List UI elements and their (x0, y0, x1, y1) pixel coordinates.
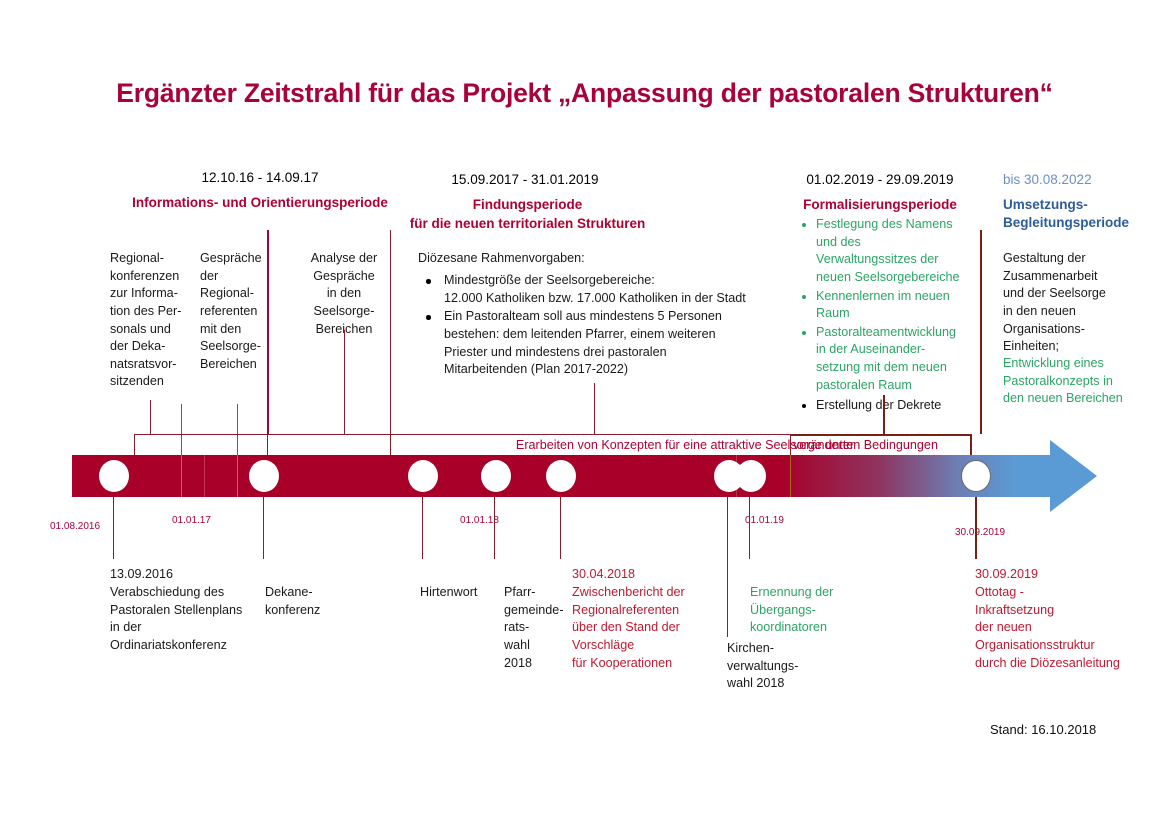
stalk-regionalkonferenzen (150, 400, 151, 434)
stalk-findungs-mid (594, 383, 595, 434)
axis-tick-label-5: 30.09.2019 (955, 527, 1005, 538)
stalk-findungs-left (390, 230, 391, 434)
stalk-analyse (344, 330, 345, 434)
list-item: Festlegung des Namens und des Verwaltung… (800, 216, 990, 287)
period-name-findungs-line2: für die neuen territorialen Strukturen (400, 215, 655, 233)
axis-tick-label-1: 01.08.2016 (50, 521, 100, 532)
drop-line-dekanekonferenz (263, 497, 264, 559)
event-text-uebergangskoordinatoren: Ernennung der Übergangs- koordinatoren (750, 584, 860, 637)
event-text-pfarrgemeinderatswahl: Pfarr- gemeinde- rats- wahl 2018 (504, 584, 566, 672)
bar-tick-c (237, 455, 238, 497)
drop-line-pfarrgemeinderatswahl (494, 497, 495, 559)
axis-tick-label-2: 01.01.17 (172, 515, 211, 526)
drop-line-kirchenverwaltungswahl (727, 497, 728, 637)
drop-line-stellenplan (113, 497, 114, 559)
event-text-zwischenbericht: Zwischenbericht der Regionalreferenten ü… (572, 584, 722, 672)
drop-line-uebergangskoordinatoren (749, 497, 750, 559)
column-umsetzung-green: Entwicklung eines Pastoralkonzepts in de… (1003, 355, 1158, 408)
period-date-findungs: 15.09.2017 - 31.01.2019 (390, 172, 660, 187)
period-date-informations: 12.10.16 - 14.09.17 (130, 170, 390, 185)
event-text-dekanekonferenz: Dekane- konferenz (265, 584, 335, 619)
event-date-ottotag: 30.09.2019 (975, 566, 1038, 584)
period-name-informations: Informations- und Orientierungsperiode (110, 194, 410, 212)
event-date-stellenplan: 13.09.2016 (110, 566, 173, 584)
period-name-formalisierungs: Formalisierungsperiode (795, 196, 965, 214)
column-umsetzung-black: Gestaltung der Zusammenarbeit und der Se… (1003, 250, 1153, 356)
bracket-drop-findungs (390, 434, 391, 456)
event-text-kirchenverwaltungswahl: Kirchen- verwaltungs- wahl 2018 (727, 640, 827, 693)
drop-line-hirtenwort (422, 497, 423, 559)
timeline-node-7 (736, 460, 766, 492)
drop-line-ottotag (975, 497, 977, 559)
bracket-horizontal-dark (790, 434, 972, 436)
bar-tick-e (790, 455, 791, 497)
bracket-drop-informations (267, 434, 268, 456)
list-item: Pastoralteamentwicklung in der Auseinand… (800, 324, 990, 395)
list-item: Kennenlernen im neuen Raum (800, 288, 990, 323)
axis-tick-label-4: 01.01.19 (745, 515, 784, 526)
list-item: Ein Pastoralteam soll aus mindestens 5 P… (418, 308, 818, 379)
timeline-diagram: Ergänzter Zeitstrahl für das Projekt „An… (0, 0, 1169, 827)
list-item: Mindestgröße der Seelsorgebereiche: 12.0… (418, 272, 818, 307)
column-analyse: Analyse der Gespräche in den Seelsorge- … (296, 250, 392, 338)
event-date-zwischenbericht: 30.04.2018 (572, 566, 635, 584)
page-title: Ergänzter Zeitstrahl für das Projekt „An… (0, 78, 1169, 109)
stalk-informations-right (267, 230, 269, 434)
period-date-umsetzungs: bis 30.08.2022 (1003, 172, 1148, 187)
formalisierung-bullet-list: Festlegung des Namens und des Verwaltung… (800, 216, 990, 416)
timeline-node-8 (961, 460, 991, 492)
stand-label: Stand: 16.10.2018 (990, 722, 1096, 737)
column-rahmenvorgaben-intro: Diözesane Rahmenvorgaben: (418, 250, 798, 268)
period-name-findungs: Findungsperiode (400, 196, 655, 214)
timeline-node-5 (546, 460, 576, 492)
event-text-ottotag: Ottotag - Inkraftsetzung der neuen Organ… (975, 584, 1155, 672)
drop-line-zwischenbericht (560, 497, 561, 559)
rahmenvorgaben-bullet-list: Mindestgröße der Seelsorgebereiche: 12.0… (418, 272, 818, 380)
list-item: Erstellung der Dekrete (800, 397, 990, 415)
event-text-stellenplan: Verabschiedung des Pastoralen Stellenpla… (110, 584, 272, 655)
timeline-node-2 (249, 460, 279, 492)
timeline-node-3 (408, 460, 438, 492)
period-date-formalisierungs: 01.02.2019 - 29.09.2019 (795, 172, 965, 187)
period-name-umsetzungs-line2: Begleitungsperiode (1003, 214, 1163, 232)
event-text-hirtenwort: Hirtenwort (420, 584, 496, 602)
bracket-end-left (134, 434, 135, 456)
stalk-formalisierungs-right (883, 395, 885, 434)
timeline-node-4 (481, 460, 511, 492)
period-name-umsetzungs: Umsetzungs- (1003, 196, 1153, 214)
bar-tick-a (204, 455, 205, 497)
column-regionalkonferenzen: Regional- konferenzen zur Informa- tion … (110, 250, 198, 391)
banner-label-part2: veränderten Bedingungen (793, 438, 973, 452)
stalk-umsetzungs-left (980, 230, 982, 434)
timeline-arrow-icon (1050, 440, 1097, 512)
bar-tick-b (181, 455, 182, 497)
timeline-node-1 (99, 460, 129, 492)
